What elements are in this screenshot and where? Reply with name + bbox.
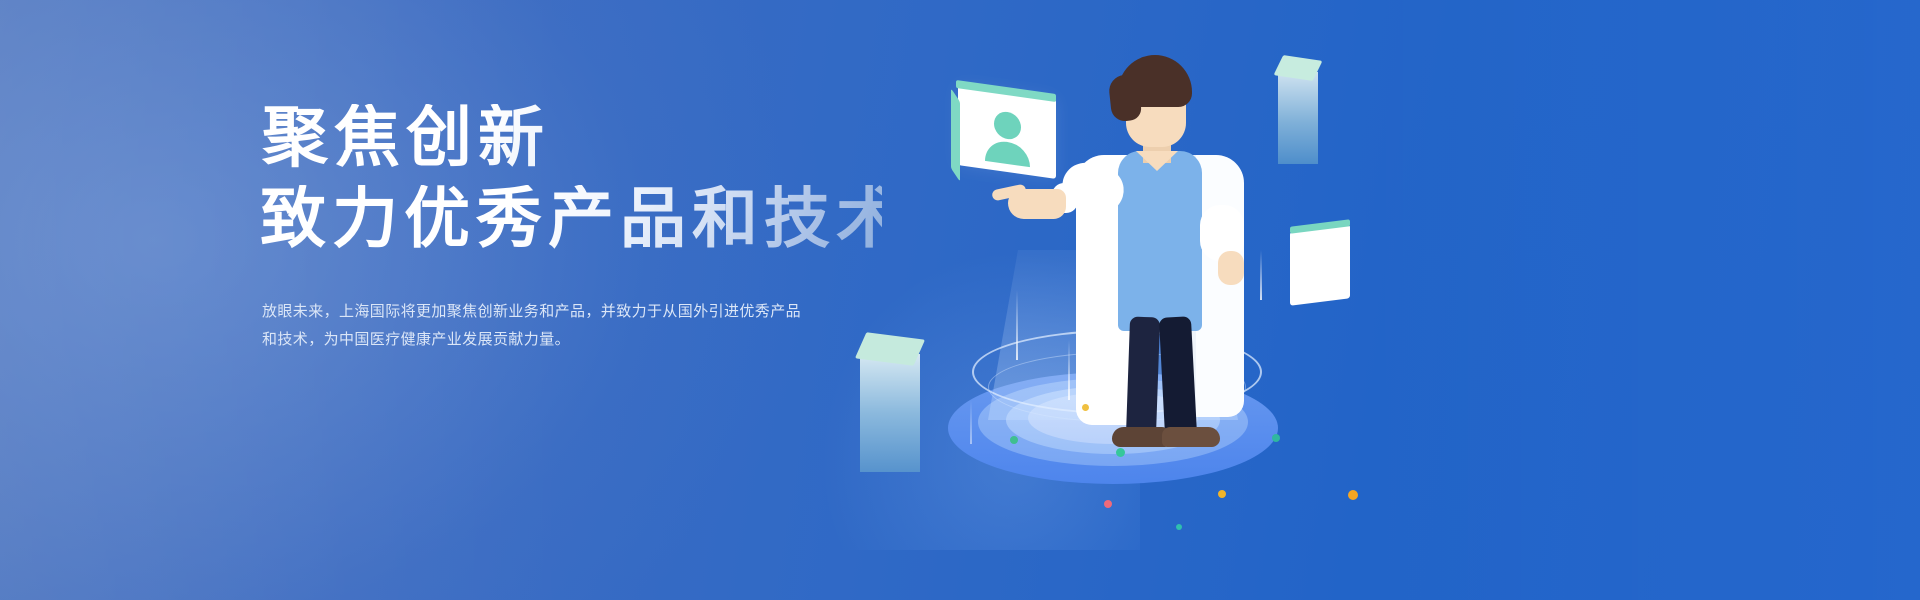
shoe-right bbox=[1162, 427, 1220, 447]
bar-right-side bbox=[1278, 72, 1318, 164]
shirt bbox=[1118, 151, 1202, 331]
particle-dot bbox=[1082, 404, 1089, 411]
banner-subtitle: 放眼未来，上海国际将更加聚焦创新业务和产品，并致力于从国外引进优秀产品 和技术，… bbox=[262, 297, 862, 353]
leg-right bbox=[1159, 316, 1197, 438]
particle-dot bbox=[1218, 490, 1226, 498]
particle-dot bbox=[1272, 434, 1280, 442]
user-card-edge bbox=[951, 88, 960, 181]
banner-copy: 聚焦创新 聚焦创新 致力优秀产品和技术 致力优秀产品和技术 放眼未来，上海国际将… bbox=[262, 104, 882, 353]
light-ray bbox=[1016, 290, 1018, 360]
subtitle-line-2: 和技术，为中国医疗健康产业发展贡献力量。 bbox=[262, 325, 862, 353]
floating-isometric-bar-right-icon bbox=[1278, 62, 1318, 158]
floating-card-face bbox=[1290, 224, 1350, 305]
floating-isometric-bar-left-icon bbox=[860, 340, 920, 464]
light-ray bbox=[970, 400, 972, 444]
headline-line2: 致力优秀产品和技术 bbox=[260, 185, 882, 254]
headline-line1: 聚焦创新 bbox=[262, 104, 882, 173]
user-profile-hologram-card bbox=[958, 92, 1056, 172]
floating-isometric-card-icon bbox=[1290, 228, 1350, 282]
particle-dot bbox=[1010, 436, 1018, 444]
subtitle-line-1: 放眼未来，上海国际将更加聚焦创新业务和产品，并致力于从国外引进优秀产品 bbox=[262, 297, 862, 325]
hero-banner: 聚焦创新 聚焦创新 致力优秀产品和技术 致力优秀产品和技术 放眼未来，上海国际将… bbox=[0, 0, 1920, 600]
particle-dot bbox=[1176, 524, 1182, 530]
bar-left-side bbox=[860, 354, 920, 472]
hero-illustration bbox=[820, 0, 1920, 600]
hand-right bbox=[1218, 251, 1244, 285]
hair-side bbox=[1108, 74, 1143, 123]
leg-left bbox=[1126, 317, 1160, 438]
doctor-illustration bbox=[1050, 55, 1280, 445]
banner-headline: 聚焦创新 聚焦创新 致力优秀产品和技术 致力优秀产品和技术 bbox=[262, 104, 882, 253]
particle-dot bbox=[1348, 490, 1358, 500]
particle-dot bbox=[1116, 448, 1125, 457]
particle-dot bbox=[1104, 500, 1112, 508]
